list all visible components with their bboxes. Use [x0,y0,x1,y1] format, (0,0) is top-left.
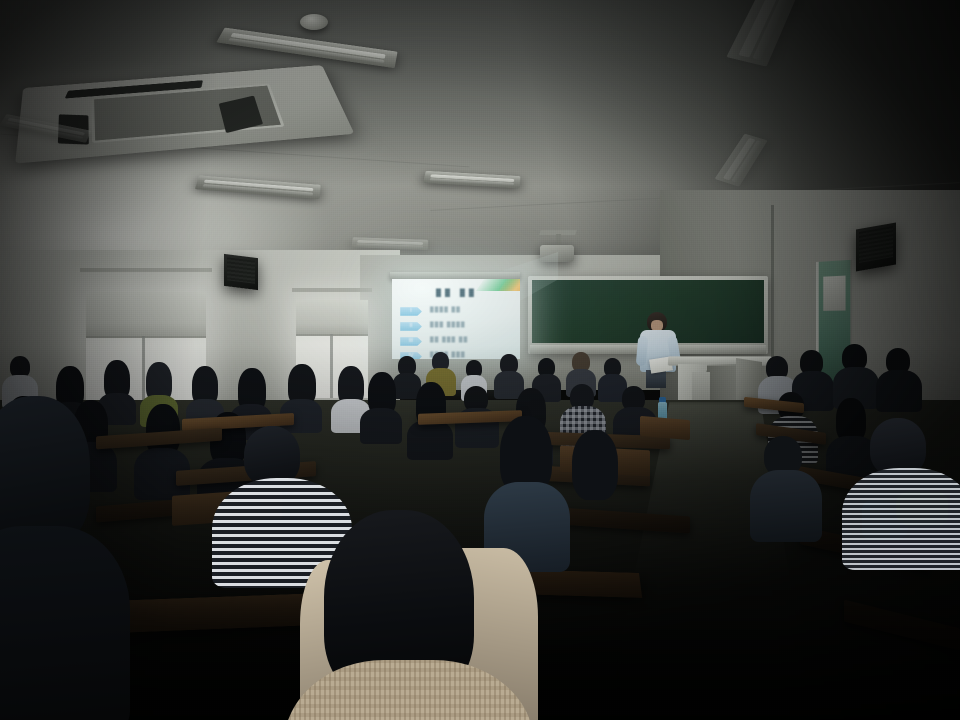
slide-bullet-text: ██ ███ ██ [430,337,468,343]
window-blind[interactable] [86,292,206,338]
slide-bullet-text: ████ ██ [430,307,461,313]
slide-bullet-list: I ████ ██ II ███ ████ III ██ ███ ██ IV █… [400,306,514,359]
ceiling-projector [540,245,574,262]
slide-bullet-tag: I [400,307,422,316]
slide-title: ██ ██ [436,290,478,297]
door-window [823,276,846,311]
wall-speaker-left [224,254,258,290]
projection-screen-housing [390,272,520,279]
blind-rail [80,268,212,272]
blind-rail [292,288,372,292]
presenter-head [647,312,667,332]
slide-bullet-tag: III [400,337,422,346]
window-blind[interactable] [296,300,368,336]
slide-bullet-item: I ████ ██ [400,306,514,318]
presenter [636,312,680,386]
projection-screen: ██ ██ I ████ ██ II ███ ████ III ██ ███ █… [392,279,520,359]
smoke-detector-icon [300,14,328,30]
slide-bullet-item: IV ████ ███ [400,351,514,359]
window-mullion [330,334,333,398]
slide-bullet-tag: II [400,322,422,331]
chair-back [640,416,690,440]
slide-bullet-text: ███ ████ [430,322,466,328]
lecture-hall-photo: ██ ██ I ████ ██ II ███ ████ III ██ ███ █… [0,0,960,720]
window-mullion [142,336,145,400]
slide-bullet-item: II ███ ████ [400,321,514,333]
slide-bullet-item: III ██ ███ ██ [400,336,514,348]
wall-speaker-right [856,222,896,271]
